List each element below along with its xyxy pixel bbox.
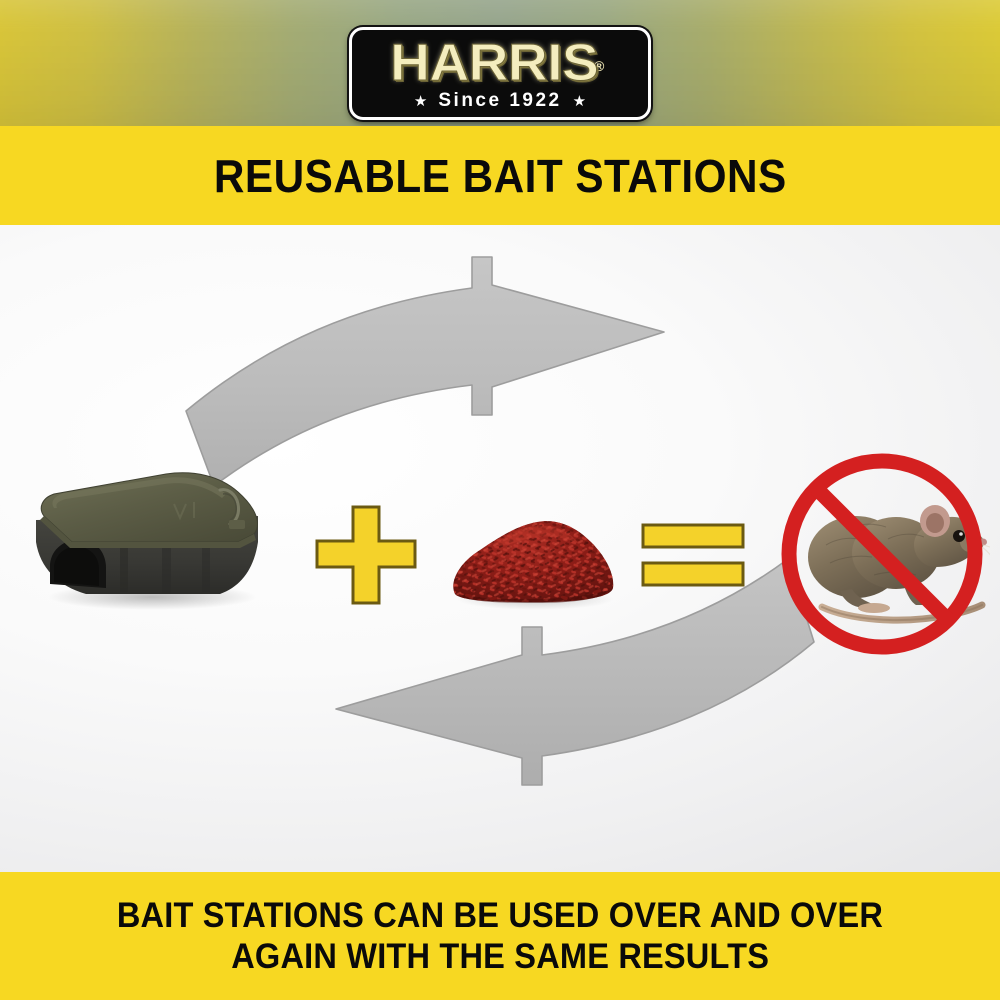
star-icon-right: ★ bbox=[573, 94, 586, 109]
no-rats-illustration bbox=[778, 453, 990, 659]
plus-operator bbox=[313, 503, 419, 607]
page-title: REUSABLE BAIT STATIONS bbox=[214, 149, 787, 203]
bait-pellets-image bbox=[443, 498, 623, 616]
footer-band: BAIT STATIONS CAN BE USED OVER AND OVER … bbox=[0, 872, 1000, 1000]
logo-tagline-row: ★ Since 1922 ★ bbox=[414, 90, 586, 112]
equals-icon bbox=[639, 519, 747, 591]
logo-wordmark-row: HARRIS ® bbox=[396, 37, 605, 89]
headline-band: REUSABLE BAIT STATIONS bbox=[0, 126, 1000, 225]
equals-operator bbox=[639, 519, 747, 591]
plus-icon bbox=[313, 503, 419, 607]
infographic-page: HARRIS ® ★ Since 1922 ★ REUSABLE BAIT ST… bbox=[0, 0, 1000, 1000]
logo-wordmark: HARRIS bbox=[390, 37, 598, 89]
bait-station-illustration bbox=[24, 468, 276, 612]
logo-tagline: Since 1922 bbox=[438, 90, 561, 112]
arrow-top-right-icon bbox=[186, 257, 664, 486]
no-rats-symbol bbox=[778, 453, 990, 659]
bait-station-image bbox=[24, 468, 276, 612]
footer-line-2: AGAIN WITH THE SAME RESULTS bbox=[231, 936, 769, 977]
star-icon-left: ★ bbox=[414, 94, 427, 109]
bait-pellets-illustration bbox=[443, 498, 623, 616]
diagram-stage bbox=[0, 225, 1000, 872]
harris-logo: HARRIS ® ★ Since 1922 ★ bbox=[349, 27, 651, 120]
footer-line-1: BAIT STATIONS CAN BE USED OVER AND OVER bbox=[117, 895, 883, 936]
